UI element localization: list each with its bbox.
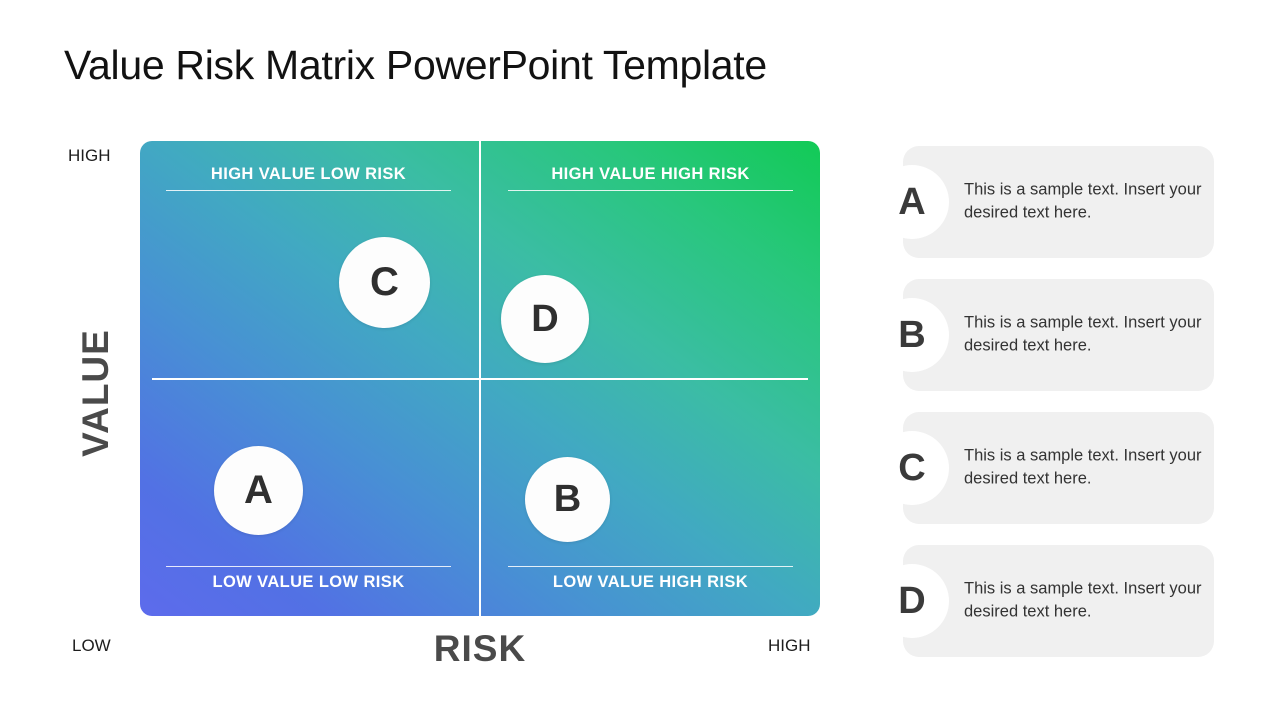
matrix-marker-b[interactable]: B	[525, 457, 610, 542]
legend-letter-a: A	[875, 165, 949, 239]
quadrant-label-text: LOW VALUE HIGH RISK	[508, 569, 793, 596]
matrix-marker-a[interactable]: A	[214, 446, 303, 535]
legend-panel: A This is a sample text. Insert your des…	[903, 146, 1214, 658]
x-axis-title: RISK	[380, 628, 580, 670]
slide-canvas: Value Risk Matrix PowerPoint Template HI…	[0, 0, 1280, 720]
legend-letter-b: B	[875, 298, 949, 372]
legend-card-b[interactable]: B This is a sample text. Insert your des…	[903, 279, 1214, 391]
y-axis-high-tick: HIGH	[68, 146, 111, 166]
matrix-marker-d[interactable]: D	[501, 275, 589, 363]
quadrant-label-rule	[166, 190, 451, 191]
x-axis-low-tick: LOW	[72, 636, 111, 656]
legend-card-d[interactable]: D This is a sample text. Insert your des…	[903, 545, 1214, 657]
legend-card-c[interactable]: C This is a sample text. Insert your des…	[903, 412, 1214, 524]
quadrant-label-rule	[508, 566, 793, 567]
legend-text-c: This is a sample text. Insert your desir…	[964, 445, 1202, 492]
legend-letter-c: C	[875, 431, 949, 505]
quadrant-label-low-value-high-risk: LOW VALUE HIGH RISK	[508, 566, 793, 596]
legend-text-a: This is a sample text. Insert your desir…	[964, 179, 1202, 226]
legend-text-b: This is a sample text. Insert your desir…	[964, 312, 1202, 359]
quadrant-label-text: HIGH VALUE HIGH RISK	[508, 161, 793, 188]
matrix-horizontal-divider	[152, 378, 808, 380]
page-title: Value Risk Matrix PowerPoint Template	[64, 42, 767, 89]
quadrant-label-low-value-low-risk: LOW VALUE LOW RISK	[166, 566, 451, 596]
matrix-marker-c[interactable]: C	[339, 237, 430, 328]
quadrant-label-rule	[166, 566, 451, 567]
legend-text-d: This is a sample text. Insert your desir…	[964, 578, 1202, 625]
quadrant-label-high-value-high-risk: HIGH VALUE HIGH RISK	[508, 161, 793, 191]
quadrant-label-text: HIGH VALUE LOW RISK	[166, 161, 451, 188]
legend-letter-d: D	[875, 564, 949, 638]
quadrant-label-text: LOW VALUE LOW RISK	[166, 569, 451, 596]
legend-card-a[interactable]: A This is a sample text. Insert your des…	[903, 146, 1214, 258]
x-axis-high-tick: HIGH	[768, 636, 811, 656]
quadrant-label-high-value-low-risk: HIGH VALUE LOW RISK	[166, 161, 451, 191]
y-axis-title: VALUE	[75, 293, 117, 493]
value-risk-matrix[interactable]: HIGH VALUE LOW RISK HIGH VALUE HIGH RISK…	[140, 141, 820, 616]
quadrant-label-rule	[508, 190, 793, 191]
